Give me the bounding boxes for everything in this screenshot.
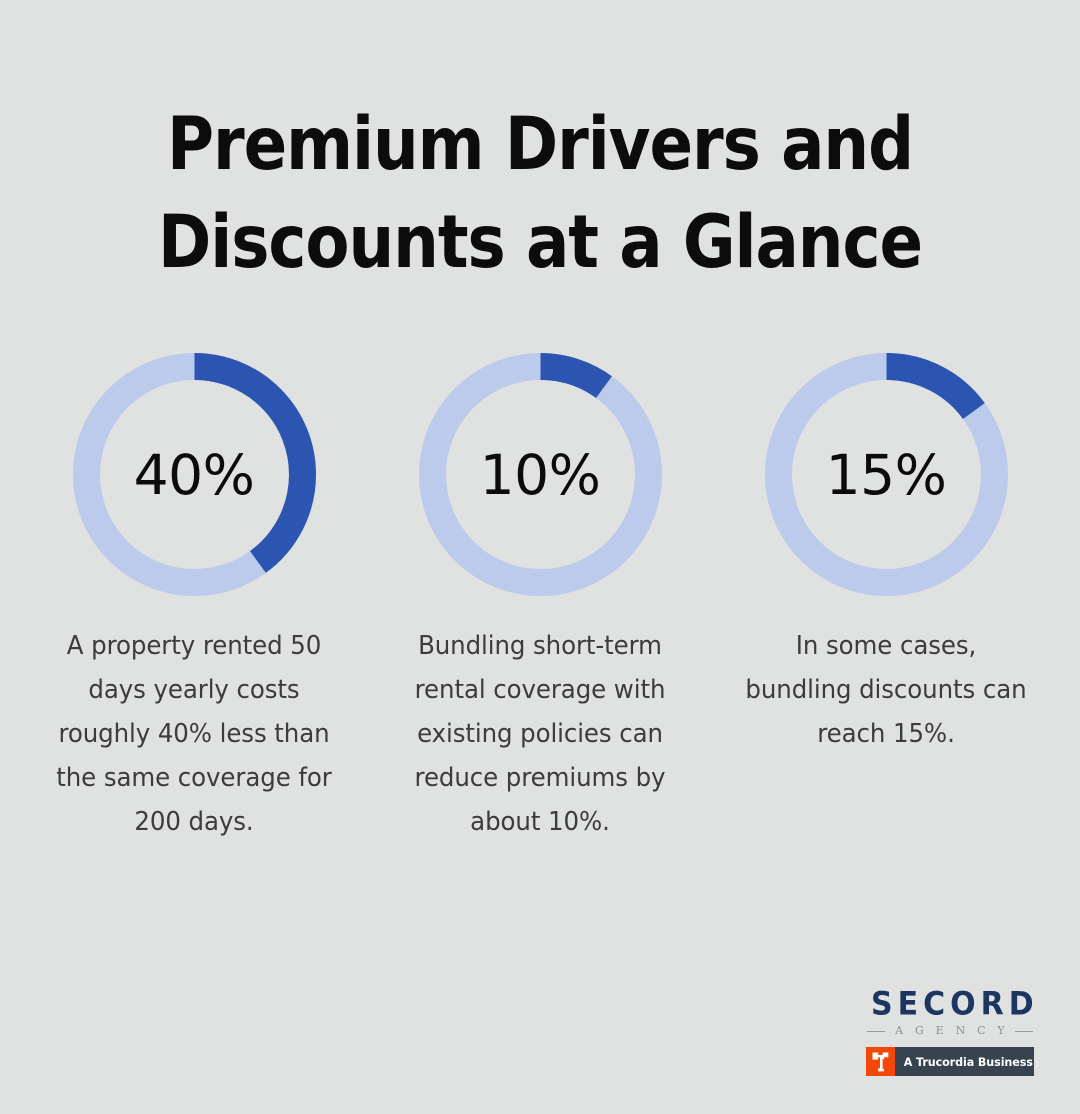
trucordia-badge: A Trucordia Business <box>866 1047 1034 1076</box>
donut-item-0: 40% <box>21 353 367 596</box>
logo-wordmark: SECORD <box>866 988 1034 1022</box>
donut-value-1: 10% <box>419 353 662 596</box>
donut-value-0: 40% <box>73 353 316 596</box>
donut-value-2: 15% <box>765 353 1008 596</box>
trucordia-t-icon <box>866 1047 895 1076</box>
logo-rule-right <box>1015 1031 1033 1032</box>
caption-row: A property rented 50 days yearly costs r… <box>0 624 1080 844</box>
donut-chart-0: 40% <box>73 353 316 596</box>
trucordia-badge-text: A Trucordia Business <box>895 1047 1033 1076</box>
logo-agency-text: A G E N C Y <box>891 1025 1009 1037</box>
page-title: Premium Drivers and Discounts at a Glanc… <box>0 96 1080 292</box>
logo-agency-line: A G E N C Y <box>866 1024 1034 1038</box>
donut-item-1: 10% <box>367 353 713 596</box>
caption-col-2: In some cases, bundling discounts can re… <box>713 624 1059 844</box>
donut-chart-row: 40% 10% 15% <box>0 353 1080 596</box>
logo-rule-left <box>867 1031 885 1032</box>
donut-chart-2: 15% <box>765 353 1008 596</box>
donut-caption-1: Bundling short-term rental coverage with… <box>393 624 687 844</box>
page-title-line-1: Premium Drivers and <box>65 96 1015 194</box>
caption-col-0: A property rented 50 days yearly costs r… <box>21 624 367 844</box>
caption-col-1: Bundling short-term rental coverage with… <box>367 624 713 844</box>
donut-caption-0: A property rented 50 days yearly costs r… <box>47 624 341 844</box>
donut-item-2: 15% <box>713 353 1059 596</box>
donut-caption-2: In some cases, bundling discounts can re… <box>739 624 1033 844</box>
brand-logo: SECORD A G E N C Y A Trucordia Business <box>866 988 1034 1076</box>
donut-chart-1: 10% <box>419 353 662 596</box>
page-title-line-2: Discounts at a Glance <box>65 194 1015 292</box>
